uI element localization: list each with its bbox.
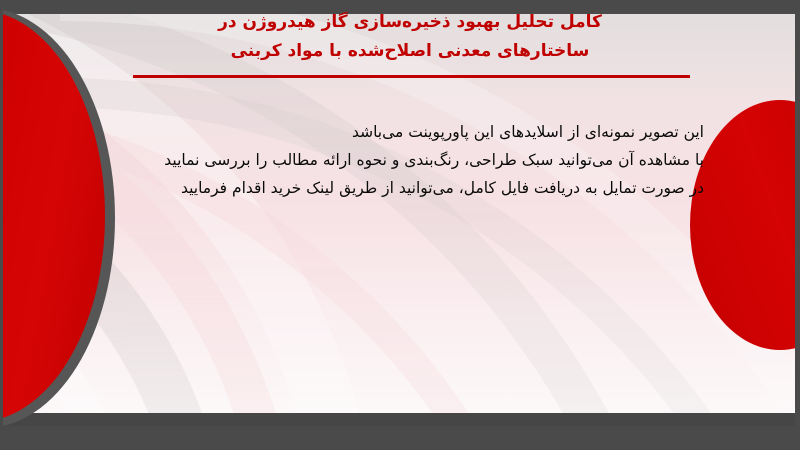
slide-frame-left [0,0,3,450]
slide-body-line-2: با مشاهده آن می‌توانید سبک طراحی، رنگ‌بن… [104,146,704,174]
slide-frame-bottom [0,426,800,450]
slide-title: کامل تحلیل بهبود ذخیره‌سازی گاز هیدروژن … [120,8,700,66]
slide-body: این تصویر نمونه‌ای از اسلایدهای این پاور… [104,118,704,202]
slide-frame-right [795,0,800,450]
slide-body-line-3: در صورت تمایل به دریافت فایل کامل، می‌تو… [104,174,704,202]
slide-title-line-1: کامل تحلیل بهبود ذخیره‌سازی گاز هیدروژن … [120,8,700,37]
slide-body-line-1: این تصویر نمونه‌ای از اسلایدهای این پاور… [104,118,704,146]
presentation-slide: کامل تحلیل بهبود ذخیره‌سازی گاز هیدروژن … [0,0,800,450]
slide-title-line-2: ساختارهای معدنی اصلاح‌شده با مواد کربنی [120,37,700,66]
title-underline-rule [133,75,690,78]
